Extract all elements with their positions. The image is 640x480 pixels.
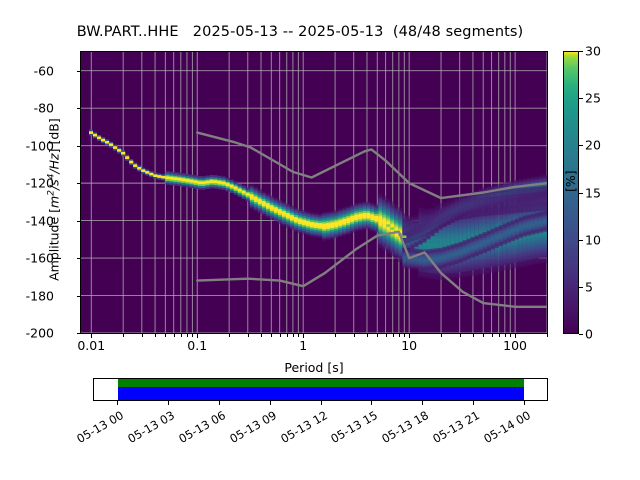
ppsd-density-canvas <box>81 52 547 333</box>
y-axis-tick-mark <box>77 71 81 72</box>
timeline-tick-mark <box>117 401 118 405</box>
x-axis-minor-tick-mark <box>271 334 272 337</box>
x-axis-minor-tick-mark <box>335 334 336 337</box>
timeline-tick-mark <box>524 401 525 405</box>
y-axis-title: Amplitude [m2/s4/Hz] [dB] <box>46 50 61 350</box>
y-axis-title-sup2: 4 <box>46 174 56 180</box>
x-axis-minor-tick-mark <box>473 334 474 337</box>
x-axis-minor-tick-mark <box>377 334 378 337</box>
timeline-tick-label: 05-14 00 <box>476 408 533 449</box>
colorbar-tick-label: 5 <box>585 279 593 294</box>
colorbar-tick-mark <box>579 51 583 52</box>
y-axis-title-m: m <box>47 196 62 208</box>
colorbar-tick-label: 20 <box>585 138 601 153</box>
timeline-tick-mark <box>371 401 372 405</box>
x-axis-minor-tick-mark <box>386 334 387 337</box>
timeline-coverage-axes[interactable] <box>93 378 548 401</box>
x-axis-minor-tick-mark <box>287 334 288 337</box>
x-axis-minor-tick-mark <box>441 334 442 337</box>
colorbar-title: [%] <box>563 72 578 192</box>
x-axis-minor-tick-mark <box>142 334 143 337</box>
x-axis-minor-tick-mark <box>293 334 294 337</box>
x-axis-minor-tick-mark <box>547 334 548 337</box>
x-axis-minor-tick-mark <box>499 334 500 337</box>
x-axis-minor-tick-mark <box>354 334 355 337</box>
timeline-tick-label: 05-13 06 <box>171 408 228 449</box>
x-axis-minor-tick-mark <box>174 334 175 337</box>
timeline-tick-mark <box>321 401 322 405</box>
x-axis-minor-tick-mark <box>367 334 368 337</box>
x-axis-minor-tick-mark <box>280 334 281 337</box>
timeline-tick-label: 05-13 00 <box>69 408 126 449</box>
timeline-tick-label: 05-13 03 <box>120 408 177 449</box>
x-axis-minor-tick-mark <box>298 334 299 337</box>
x-axis-minor-tick-mark <box>165 334 166 337</box>
y-axis-tick-mark <box>77 333 81 334</box>
x-axis-tick-label: 100 <box>475 338 555 353</box>
colorbar-tick-label: 10 <box>585 232 601 247</box>
timeline-tick-label: 05-13 09 <box>221 408 278 449</box>
x-axis-minor-tick-mark <box>505 334 506 337</box>
timeline-tick-mark <box>270 401 271 405</box>
x-axis-minor-tick-mark <box>229 334 230 337</box>
x-axis-minor-tick-mark <box>510 334 511 337</box>
colorbar-tick-mark <box>579 334 583 335</box>
colorbar-tick-mark <box>579 240 583 241</box>
x-axis-tick-mark <box>303 334 304 338</box>
colorbar-tick-mark <box>579 287 583 288</box>
y-axis-tick-mark <box>77 258 81 259</box>
ppsd-histogram <box>81 52 547 333</box>
y-axis-tick-mark <box>77 296 81 297</box>
colorbar-tick-mark <box>579 98 583 99</box>
x-axis-minor-tick-mark <box>261 334 262 337</box>
x-axis-minor-tick-mark <box>181 334 182 337</box>
timeline-tick-label: 05-13 12 <box>272 408 329 449</box>
x-axis-tick-label: 0.01 <box>51 338 131 353</box>
x-axis-minor-tick-mark <box>123 334 124 337</box>
y-axis-title-prefix: Amplitude [ <box>47 208 62 281</box>
page-title: BW.PART..HHE 2025-05-13 -- 2025-05-13 (4… <box>0 24 600 40</box>
x-axis-minor-tick-mark <box>460 334 461 337</box>
x-axis-minor-tick-mark <box>187 334 188 337</box>
colorbar-tick-label: 30 <box>585 44 601 59</box>
x-axis-tick-mark <box>409 334 410 338</box>
colorbar-tick-mark <box>579 193 583 194</box>
x-axis-minor-tick-mark <box>393 334 394 337</box>
timeline-tick-label: 05-13 21 <box>425 408 482 449</box>
colorbar-tick-label: 0 <box>585 327 593 342</box>
x-axis-minor-tick-mark <box>399 334 400 337</box>
x-axis-minor-tick-mark <box>483 334 484 337</box>
timeline-psd-bar <box>118 379 524 387</box>
timeline-tick-label: 05-13 15 <box>323 408 380 449</box>
ppsd-figure: BW.PART..HHE 2025-05-13 -- 2025-05-13 (4… <box>0 0 640 480</box>
y-axis-title-sup1: 2 <box>46 190 56 196</box>
colorbar-tick-mark <box>579 145 583 146</box>
y-axis-tick-mark <box>77 221 81 222</box>
x-axis-minor-tick-mark <box>248 334 249 337</box>
x-axis-minor-tick-mark <box>404 334 405 337</box>
y-axis-title-slash1: /s <box>47 179 62 190</box>
y-axis-title-slash2: /Hz <box>47 153 62 173</box>
x-axis-tick-label: 0.1 <box>157 338 237 353</box>
timeline-tick-mark <box>219 401 220 405</box>
y-axis-tick-mark <box>77 108 81 109</box>
x-axis-minor-tick-mark <box>492 334 493 337</box>
timeline-tick-mark <box>422 401 423 405</box>
timeline-data-bar <box>118 387 524 400</box>
y-axis-title-suffix: ] [dB] <box>47 118 62 153</box>
ppsd-plot-area[interactable] <box>80 51 548 334</box>
timeline-tick-mark <box>168 401 169 405</box>
x-axis-title: Period [s] <box>80 360 548 375</box>
timeline-tick-label: 05-13 18 <box>374 408 431 449</box>
x-axis-minor-tick-mark <box>192 334 193 337</box>
colorbar-tick-label: 25 <box>585 91 601 106</box>
x-axis-tick-mark <box>197 334 198 338</box>
colorbar-tick-label: 15 <box>585 185 601 200</box>
x-axis-tick-mark <box>91 334 92 338</box>
y-axis-tick-mark <box>77 183 81 184</box>
x-axis-tick-mark <box>515 334 516 338</box>
x-axis-minor-tick-mark <box>155 334 156 337</box>
y-axis-tick-mark <box>77 146 81 147</box>
x-axis-tick-label: 1 <box>263 338 343 353</box>
x-axis-tick-label: 10 <box>369 338 449 353</box>
timeline-tick-mark <box>473 401 474 405</box>
